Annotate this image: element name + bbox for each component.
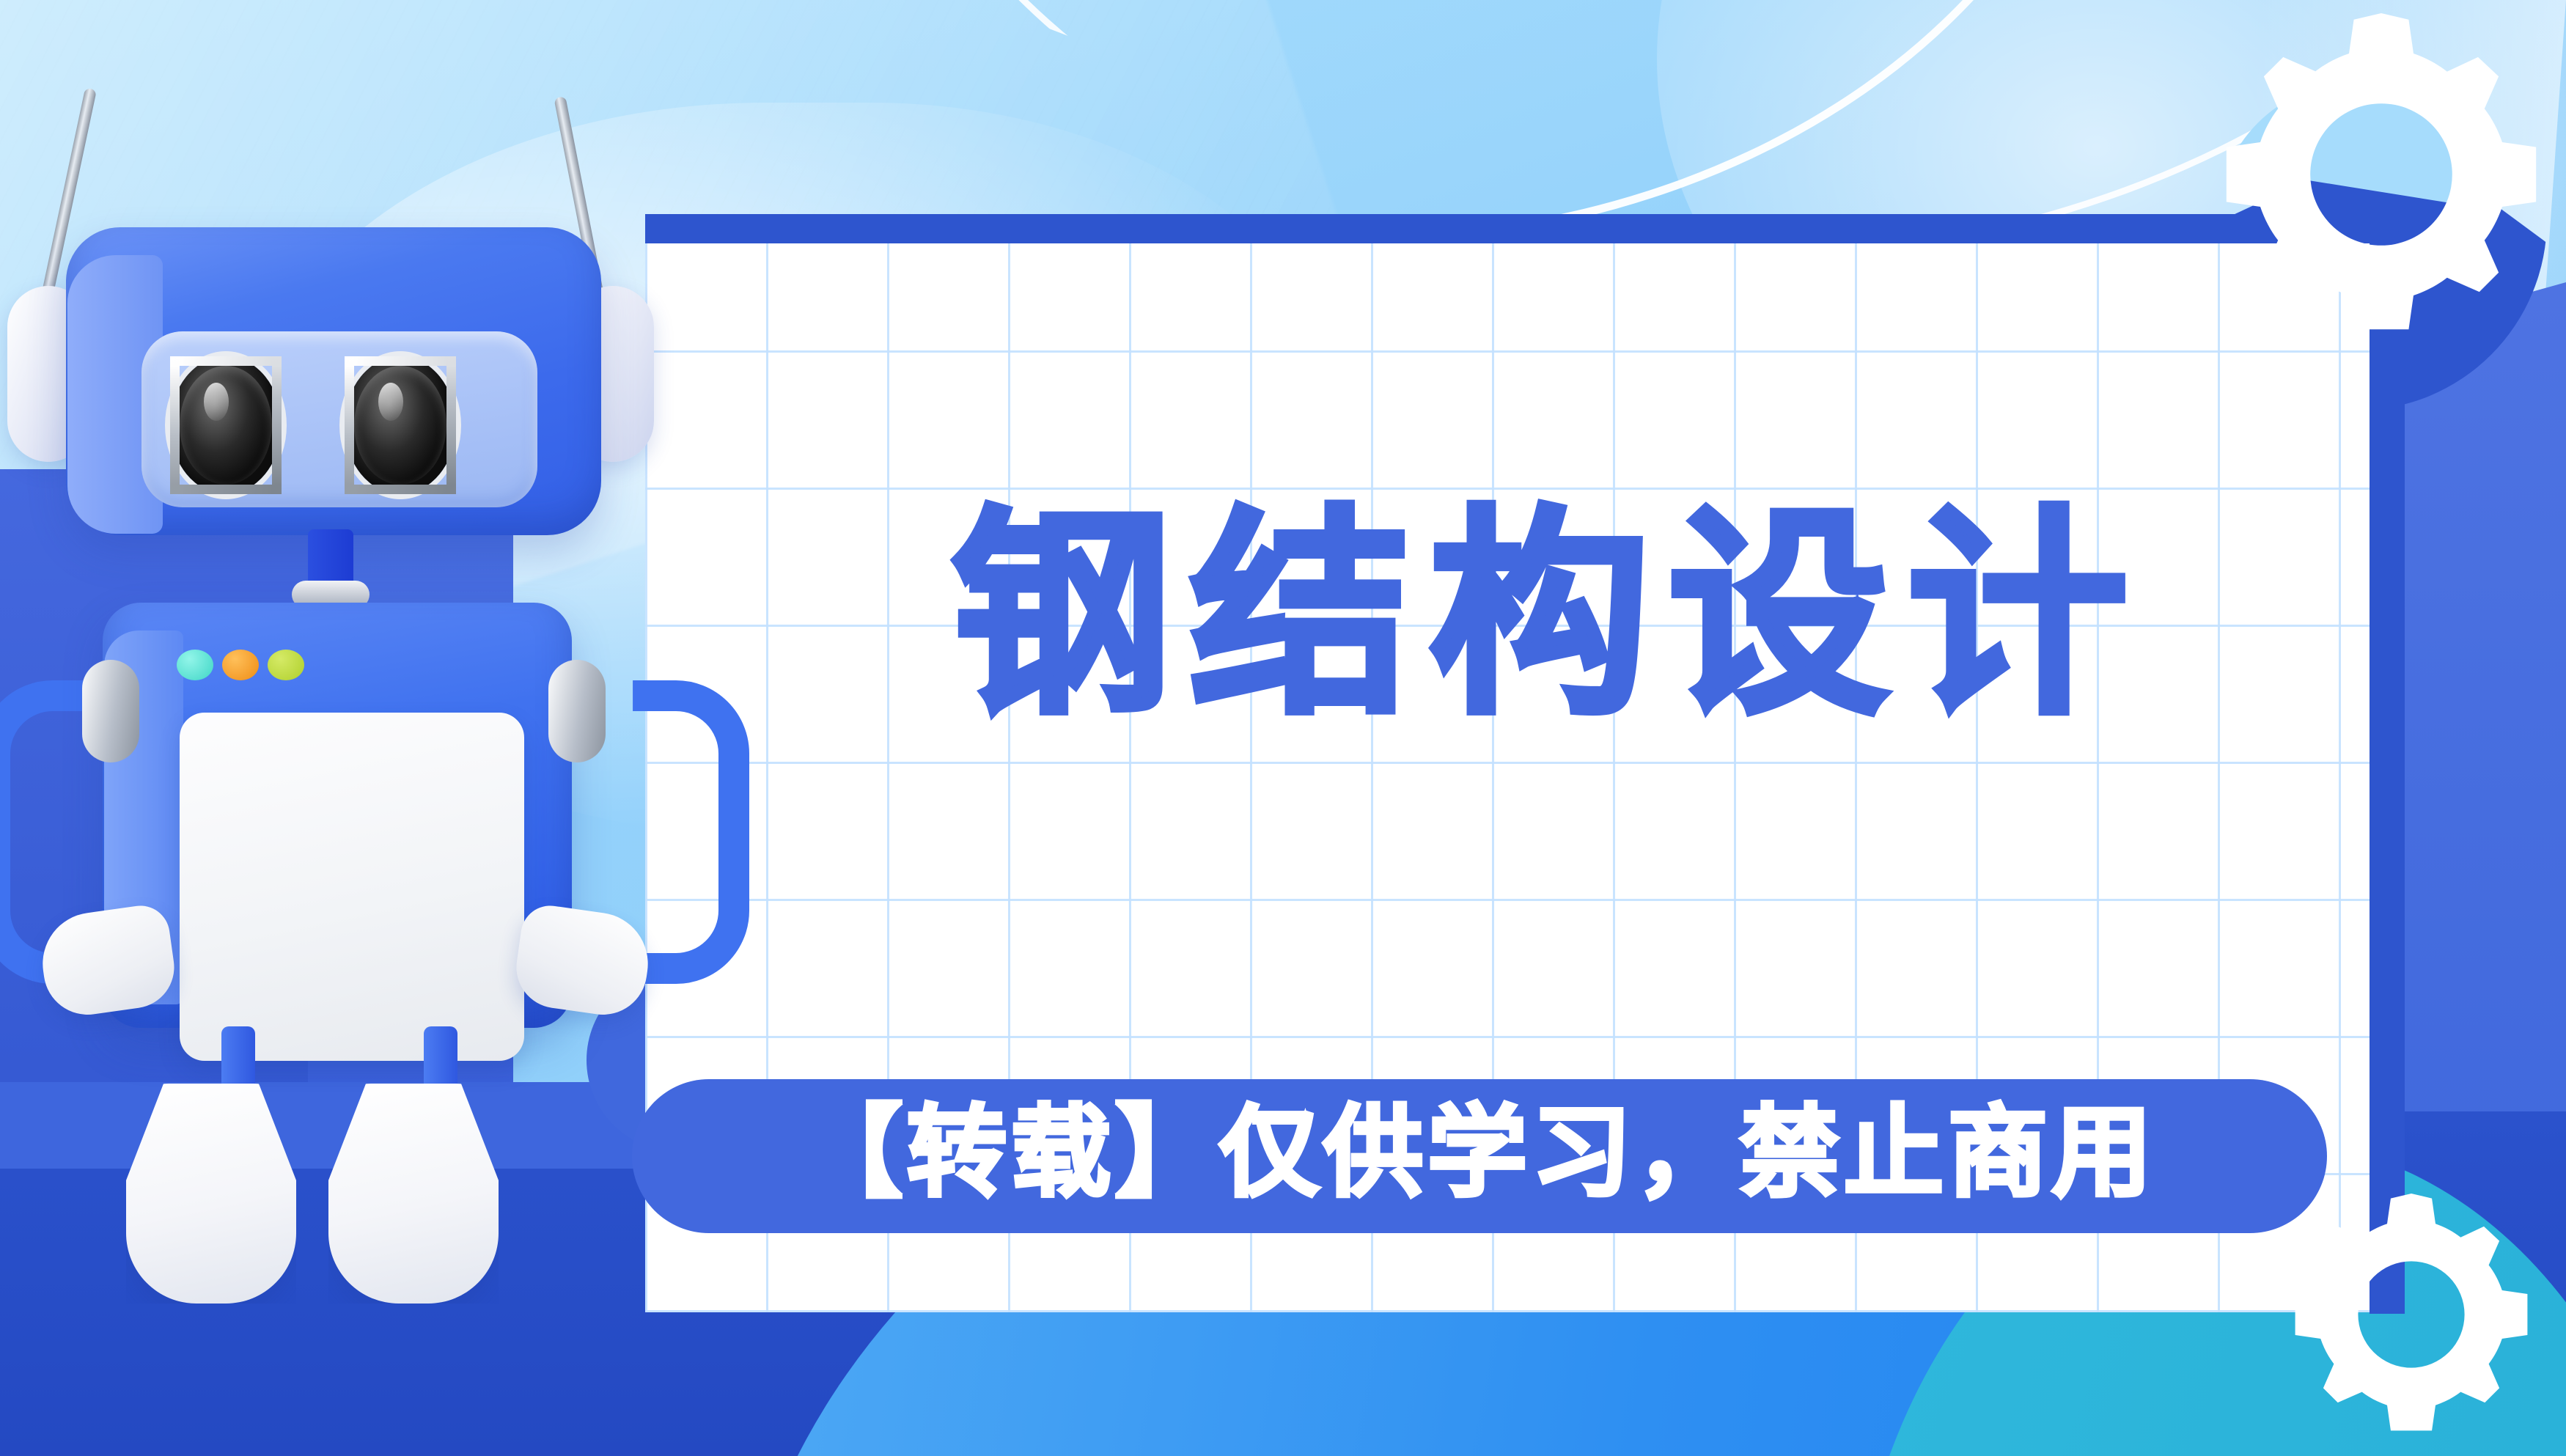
- robot-chest-screen: [180, 713, 524, 1061]
- robot-mascot-icon: [0, 73, 704, 1386]
- robot-status-dot-green: [268, 650, 304, 680]
- page-title: 钢结构设计: [704, 506, 2375, 726]
- robot-eye-left: [170, 356, 282, 494]
- gear-icon: [2290, 1194, 2532, 1435]
- panel-top-border: [645, 214, 2405, 243]
- robot-foot-right: [328, 1084, 499, 1304]
- subtitle-banner: 【转载】仅供学习，禁止商用: [632, 1079, 2327, 1233]
- banner-canvas: 钢结构设计 【转载】仅供学习，禁止商用: [0, 0, 2566, 1456]
- panel-right-border: [2370, 214, 2405, 1314]
- robot-status-dot-cyan: [177, 650, 213, 680]
- robot-eye-right: [345, 356, 456, 494]
- subtitle-text: 【转载】仅供学习，禁止商用: [803, 1103, 2156, 1203]
- robot-shoulder-left: [82, 660, 139, 762]
- gear-icon: [2220, 13, 2543, 336]
- robot-status-dot-orange: [222, 650, 259, 680]
- robot-foot-left: [126, 1084, 296, 1304]
- robot-shoulder-right: [548, 660, 606, 762]
